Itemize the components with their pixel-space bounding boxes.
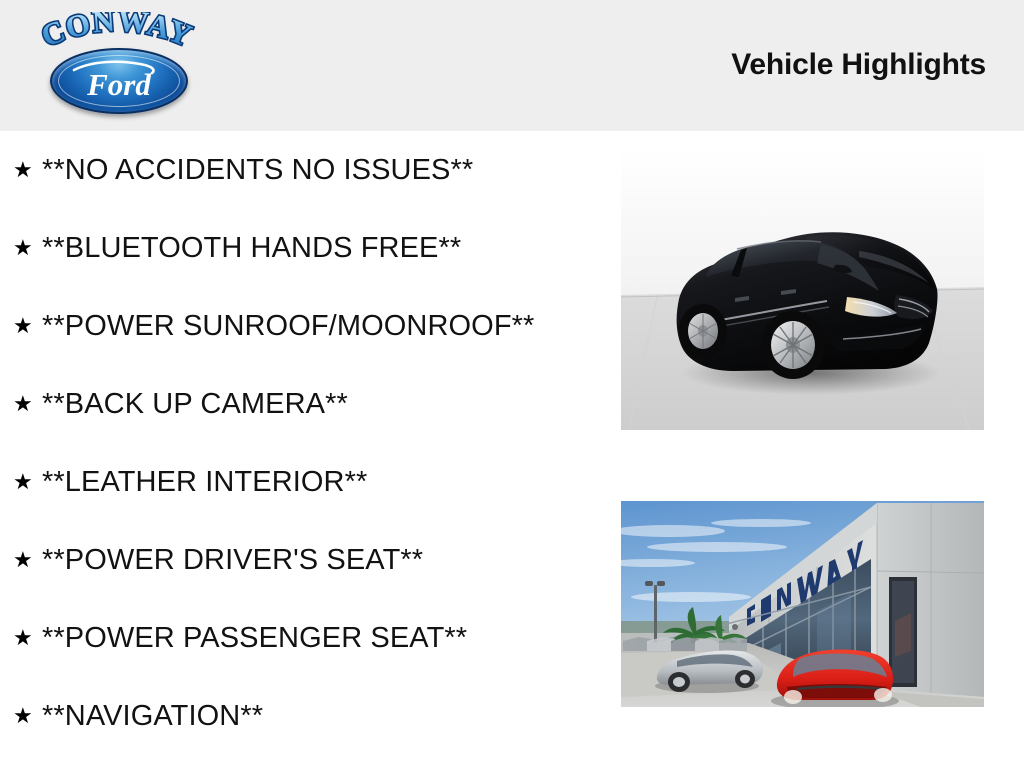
list-item-label: **BACK UP CAMERA** <box>42 388 348 420</box>
list-item: ★ **POWER SUNROOF/MOONROOF** <box>0 287 600 365</box>
list-item-label: **NO ACCIDENTS NO ISSUES** <box>42 154 473 186</box>
svg-text:Ford: Ford <box>86 67 151 102</box>
star-icon: ★ <box>13 443 33 521</box>
logo-wordmark-conway: CONWAY CONWAY <box>22 12 212 60</box>
list-item: ★ **LEATHER INTERIOR** <box>0 443 600 521</box>
list-item: ★ **BLUETOOTH HANDS FREE** <box>0 209 600 287</box>
star-icon: ★ <box>13 131 33 209</box>
list-item-label: **NAVIGATION** <box>42 700 263 732</box>
star-icon: ★ <box>13 521 33 599</box>
star-icon: ★ <box>13 365 33 443</box>
list-item: ★ **POWER DRIVER'S SEAT** <box>0 521 600 599</box>
dealership-photo-image <box>621 501 984 707</box>
list-item-label: **POWER SUNROOF/MOONROOF** <box>42 310 534 342</box>
vehicle-photo-image <box>621 149 984 430</box>
dealership-photo[interactable] <box>621 501 984 707</box>
list-item-label: **POWER PASSENGER SEAT** <box>42 622 467 654</box>
list-item-label: **LEATHER INTERIOR** <box>42 466 367 498</box>
list-item: ★ **POWER PASSENGER SEAT** <box>0 599 600 677</box>
list-item-label: **POWER DRIVER'S SEAT** <box>42 544 423 576</box>
vehicle-highlights-list: ★ **NO ACCIDENTS NO ISSUES** ★ **BLUETOO… <box>0 131 600 755</box>
conway-ford-logo[interactable]: CONWAY CONWAY Ford <box>22 10 212 120</box>
star-icon: ★ <box>13 209 33 287</box>
list-item: ★ **NAVIGATION** <box>0 677 600 755</box>
list-item: ★ **BACK UP CAMERA** <box>0 365 600 443</box>
page-title: Vehicle Highlights <box>731 48 986 82</box>
list-item-label: **BLUETOOTH HANDS FREE** <box>42 232 461 264</box>
header-bar: CONWAY CONWAY Ford Vehicle Highlights <box>0 0 1024 131</box>
vehicle-photo[interactable] <box>621 149 984 430</box>
svg-text:CONWAY: CONWAY <box>36 12 197 54</box>
list-item: ★ **NO ACCIDENTS NO ISSUES** <box>0 131 600 209</box>
star-icon: ★ <box>13 599 33 677</box>
star-icon: ★ <box>13 287 33 365</box>
star-icon: ★ <box>13 677 33 755</box>
